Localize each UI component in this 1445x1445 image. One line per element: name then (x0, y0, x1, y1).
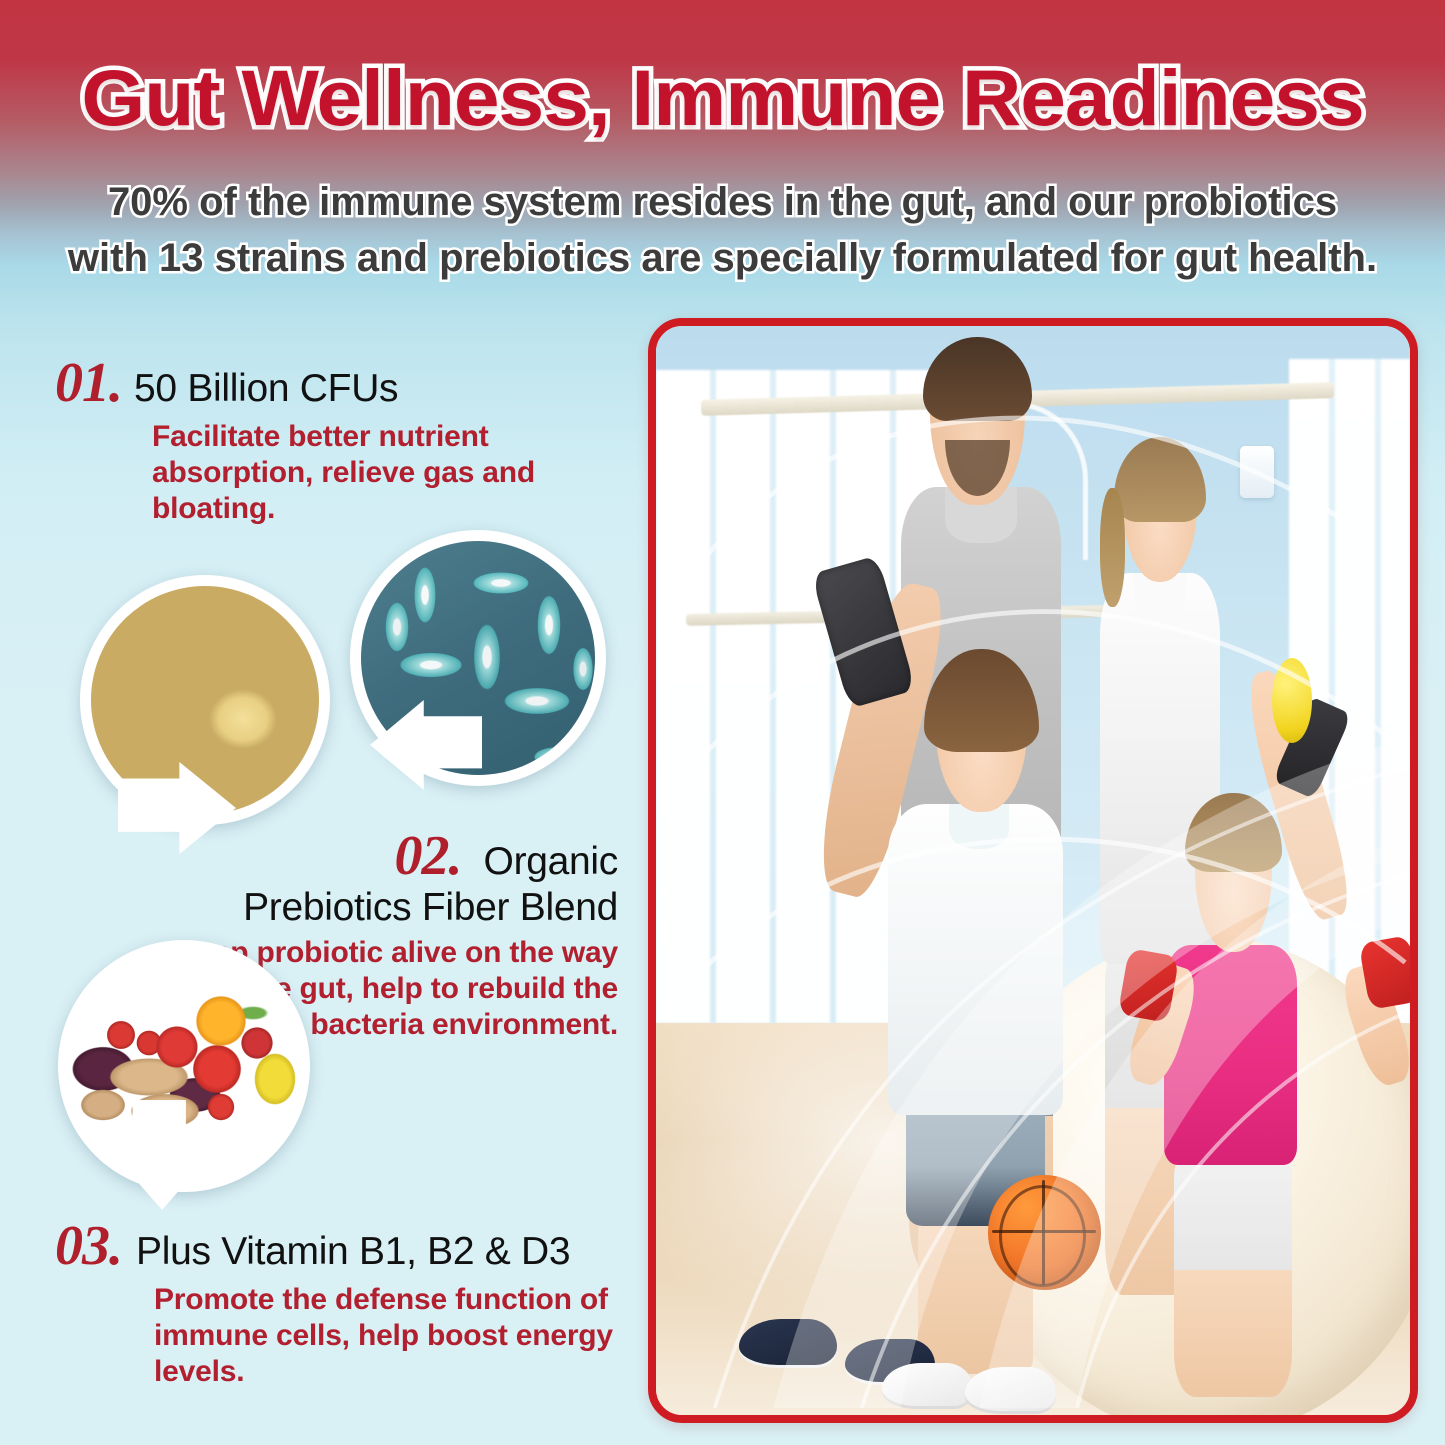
mother-hair (1114, 437, 1206, 522)
father-hair (923, 337, 1032, 421)
feature-heading-01: 50 Billion CFUs (134, 365, 398, 413)
infographic-canvas: Gut Wellness, Immune Readiness 70% of th… (0, 0, 1445, 1445)
mother-ponytail (1100, 488, 1126, 607)
subtitle-line-1: 70% of the immune system resides in the … (0, 174, 1445, 230)
feature-heading-03: Plus Vitamin B1, B2 & D3 (136, 1228, 570, 1276)
boy-figure (852, 664, 1154, 1405)
basketball-icon (988, 1175, 1101, 1289)
basketball-seam-horizontal (992, 1230, 1096, 1233)
feature-number-03: 03. (55, 1218, 122, 1274)
page-subtitle: 70% of the immune system resides in the … (0, 174, 1445, 286)
feature-item-03: 03. Plus Vitamin B1, B2 & D3 Promote the… (55, 1218, 615, 1390)
feature-number-01: 01. (55, 355, 122, 411)
gym-scene (656, 326, 1410, 1415)
yellow-ball-icon (1272, 658, 1312, 743)
boy-torso (888, 804, 1063, 1115)
navy-sneaker-1 (739, 1319, 837, 1365)
feature-heading-02-line-2: Prebiotics Fiber Blend (150, 885, 618, 931)
white-sneaker-1 (882, 1363, 972, 1407)
feature-description-01: Facilitate better nutrient absorption, r… (152, 419, 575, 527)
girl-hair (1185, 793, 1282, 872)
white-sneaker-2 (965, 1367, 1055, 1411)
feature-item-01: 01. 50 Billion CFUs Facilitate better nu… (55, 355, 575, 527)
page-title: Gut Wellness, Immune Readiness (0, 52, 1445, 144)
subtitle-line-2: with 13 strains and prebiotics are speci… (0, 230, 1445, 286)
boy-hair (924, 649, 1039, 753)
feature-heading-02-line-1: Organic (484, 839, 618, 885)
girl-figure (1139, 805, 1395, 1415)
girl-legs (1174, 1153, 1292, 1397)
feature-description-03: Promote the defense function of immune c… (154, 1282, 615, 1390)
family-gym-photo (648, 318, 1418, 1423)
feature-number-02: 02. (395, 828, 462, 884)
